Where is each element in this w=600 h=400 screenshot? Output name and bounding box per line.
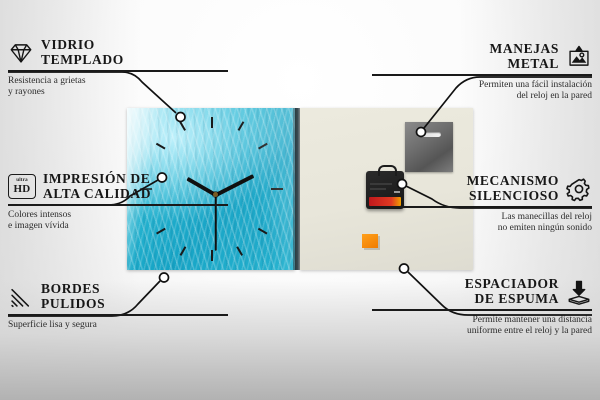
clock-tick — [238, 121, 244, 130]
feature-description: Permite mantener una distanciauniforme e… — [372, 315, 592, 338]
feature-heading: VIDRIOTEMPLADO — [8, 38, 228, 67]
clock-tick — [271, 188, 283, 190]
feature-impresion-alta-calidad: ultra HD IMPRESIÓN DEALTA CALIDAD Colore… — [8, 172, 228, 233]
clock-tick — [211, 250, 213, 261]
polished-edge-icon — [8, 284, 34, 310]
feature-divider — [372, 309, 592, 311]
feature-espaciador-espuma: ESPACIADORDE ESPUMA Permite mantener una… — [372, 277, 592, 338]
feature-manejas-metal: MANEJASMETAL Permiten una fácil instalac… — [372, 42, 592, 103]
picture-hanger-icon — [566, 44, 592, 70]
feature-description: Superficie lisa y segura — [8, 320, 228, 332]
clock-tick — [237, 246, 243, 255]
clock-tick — [258, 143, 267, 149]
feature-description: Colores intensose imagen vívida — [8, 210, 228, 233]
clock-tick — [211, 117, 213, 128]
hanger-slot — [417, 132, 441, 137]
feature-divider — [8, 70, 228, 72]
diamond-icon — [8, 40, 34, 66]
gear-icon — [566, 176, 592, 202]
feature-title: ESPACIADORDE ESPUMA — [465, 277, 559, 306]
foam-spacer-icon — [566, 279, 592, 305]
metal-hanger-plate — [405, 122, 453, 172]
feature-title: MANEJASMETAL — [490, 42, 559, 71]
feature-divider — [8, 314, 228, 316]
ultra-hd-icon-main-label: HD — [13, 184, 30, 195]
feature-title: IMPRESIÓN DEALTA CALIDAD — [43, 172, 151, 201]
ultra-hd-icon: ultra HD — [8, 174, 36, 199]
feature-title: MECANISMOSILENCIOSO — [467, 174, 559, 203]
feature-divider — [8, 204, 228, 206]
feature-title: VIDRIOTEMPLADO — [41, 38, 124, 67]
feature-description: Permiten una fácil instalacióndel reloj … — [372, 80, 592, 103]
clock-tick — [156, 143, 165, 149]
clock-tick — [180, 121, 186, 130]
feature-bordes-pulidos: BORDESPULIDOS Superficie lisa y segura — [8, 282, 228, 331]
feature-divider — [372, 74, 592, 76]
clock-tick — [258, 228, 267, 234]
feature-description: Resistencia a grietasy rayones — [8, 76, 228, 99]
foam-spacer-sample — [362, 234, 378, 248]
feature-vidrio-templado: VIDRIOTEMPLADO Resistencia a grietasy ra… — [8, 38, 228, 99]
feature-mecanismo-silencioso: MECANISMOSILENCIOSO Las manecillas del r… — [372, 174, 592, 235]
feature-heading: ultra HD IMPRESIÓN DEALTA CALIDAD — [8, 172, 228, 201]
feature-heading: MANEJASMETAL — [372, 42, 592, 71]
feature-heading: MECANISMOSILENCIOSO — [372, 174, 592, 203]
feature-heading: BORDESPULIDOS — [8, 282, 228, 311]
feature-title: BORDESPULIDOS — [41, 282, 105, 311]
feature-divider — [372, 206, 592, 208]
feature-heading: ESPACIADORDE ESPUMA — [372, 277, 592, 306]
clock-tick — [180, 246, 186, 255]
feature-description: Las manecillas del relojno emiten ningún… — [372, 212, 592, 235]
infographic-canvas: VIDRIOTEMPLADO Resistencia a grietasy ra… — [0, 0, 600, 400]
